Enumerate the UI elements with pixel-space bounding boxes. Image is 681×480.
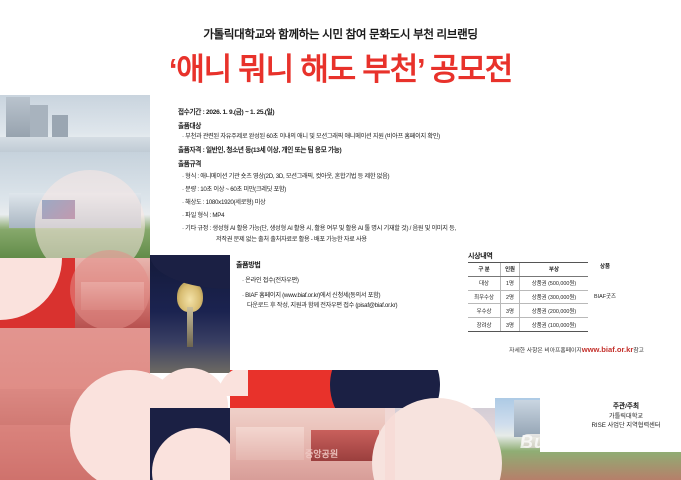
table-row: 우수상 3명 상품권 (200,000원) — [468, 304, 588, 318]
awards-header-row: 구 분 인원 부상 — [468, 263, 588, 277]
host-heading: 주관/주최 — [576, 400, 676, 410]
award-count: 3명 — [501, 304, 520, 318]
table-row: 대상 1명 상품권 (500,000원) — [468, 276, 588, 290]
awards-goods-value: BIAF굿즈 — [580, 272, 630, 300]
spec-line-fileformat: · 파일 형식 : MP4 — [178, 210, 224, 219]
award-count: 1명 — [501, 276, 520, 290]
shape-circle-rose-1 — [70, 250, 150, 330]
awards-heading: 시상내역 — [468, 251, 493, 261]
award-prize: 상품권 (100,000원) — [519, 318, 588, 332]
tint-rose-overlay — [230, 408, 385, 480]
apply-line-homepage: · BIAF 홈페이지 (www.biaf.or.kr)에서 신청세(동의서 포… — [242, 290, 380, 299]
table-row: 장려상 3명 상품권 (100,000원) — [468, 318, 588, 332]
spec-line-misc-cont: 저작권 문제 없는 출처 출처자료로 활용 ‑ 배포 가능한 자료 사용 — [216, 234, 367, 243]
spec-heading: 출품규격 — [178, 158, 201, 168]
apply-line-email: 다운로드 후 작성, 지원과 함께 전자우편 접수 (pisaf@biaf.or… — [247, 300, 397, 309]
apply-line-online: · 온라인 접수(전자우편) — [242, 275, 299, 284]
table-row: 최우수상 2명 상품권 (300,000원) — [468, 290, 588, 304]
poster-subtitle: 가톨릭대학교와 함께하는 시민 참여 문화도시 부천 리브랜딩 — [0, 26, 681, 42]
awards-goods-column: 상품 BIAF굿즈 — [580, 262, 630, 300]
spec-line-length: · 분량 : 10초 이상 ~ 60초 미만(크레딧 포함) — [178, 184, 286, 193]
awards-col-grade: 구 분 — [468, 263, 501, 277]
website-url-link[interactable]: www.biaf.or.kr — [582, 345, 634, 354]
poster-canvas: 중앙공원 Bucheon 가톨릭대학교와 함께하는 시민 참여 문화도시 부천 … — [0, 0, 681, 480]
awards-col-count: 인원 — [501, 263, 520, 277]
award-grade: 대상 — [468, 276, 501, 290]
website-note: 자세한 사항은 비아프홈페이지www.biaf.or.kr참고 — [444, 345, 644, 354]
spec-line-misc: · 기타 규정 : 생성형 AI 활용 가능(단, 생성형 AI 활용 시, 활… — [178, 223, 456, 232]
award-grade: 우수상 — [468, 304, 501, 318]
application-period: 접수기간 : 2026. 1. 9.(금) ~ 1. 25.(일) — [178, 106, 274, 116]
spec-line-format: · 형식 : 애니메이션 기관 숏츠 영상(2D, 3D, 모션그래픽, 컷아웃… — [178, 171, 389, 180]
website-note-suffix: 참고 — [633, 348, 644, 354]
award-count: 3명 — [501, 318, 520, 332]
awards-goods-header: 상품 — [580, 262, 630, 272]
award-prize: 상품권 (200,000원) — [519, 304, 588, 318]
awards-table: 구 분 인원 부상 대상 1명 상품권 (500,000원) 최우수상 2명 상… — [468, 262, 588, 332]
watermark-park-label: 중앙공원 — [305, 447, 338, 460]
award-count: 2명 — [501, 290, 520, 304]
shape-divider-rose — [385, 408, 395, 480]
poster-title: ‘애니 뭐니 해도 부천’ 공모전 — [0, 44, 681, 89]
target-heading: 출품대상 — [178, 120, 201, 130]
apply-heading: 출품방법 — [236, 260, 261, 270]
photo-art-center — [230, 408, 385, 480]
qualification-line: 출품자격 : 일반인, 청소년 등(13세 이상, 개인 또는 팀 응모 가능) — [178, 144, 341, 154]
awards-col-prize: 부상 — [519, 263, 588, 277]
host-block: 주관/주최 가톨릭대학교 RISE 사업단 지역협력센터 — [576, 400, 676, 431]
target-line: · 부천과 관련된 자유주제로 완성된 60초 이내의 애니 및 모션그래픽 애… — [178, 131, 440, 140]
award-prize: 상품권 (500,000원) — [519, 276, 588, 290]
website-note-prefix: 자세한 사항은 비아프홈페이지 — [509, 348, 582, 354]
awards-table-wrap: 구 분 인원 부상 대상 1명 상품권 (500,000원) 최우수상 2명 상… — [468, 262, 588, 332]
awards-table-body: 대상 1명 상품권 (500,000원) 최우수상 2명 상품권 (300,00… — [468, 276, 588, 331]
award-grade: 장려상 — [468, 318, 501, 332]
award-grade: 최우수상 — [468, 290, 501, 304]
awards-table-head: 구 분 인원 부상 — [468, 263, 588, 277]
award-prize: 상품권 (300,000원) — [519, 290, 588, 304]
spec-line-resolution: · 해상도 : 1080x1920(세로형) 미상 — [178, 197, 265, 206]
host-names: 가톨릭대학교 RISE 사업단 지역협력센터 — [576, 413, 676, 431]
